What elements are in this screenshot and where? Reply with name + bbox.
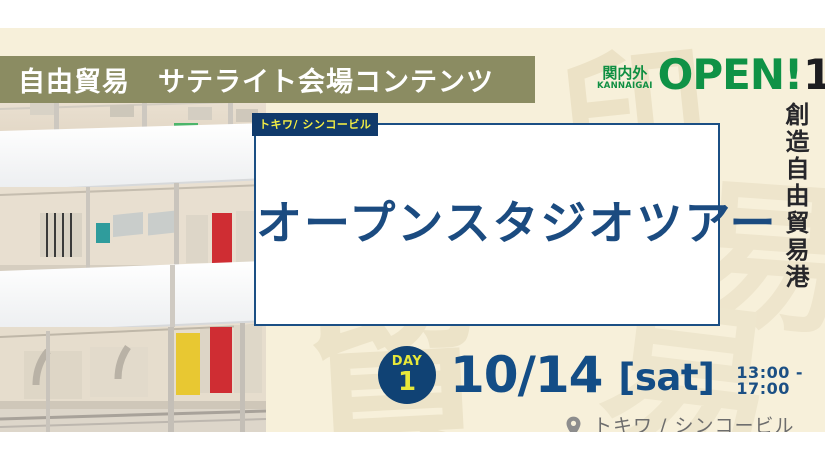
photo-artwork	[0, 75, 266, 432]
venue-photo	[0, 75, 266, 432]
logo-edition-number: 15	[803, 56, 825, 95]
logo-jp-kanji: 関内外	[602, 66, 647, 82]
header-banner-text: 自由貿易 サテライト会場コンテンツ	[0, 60, 494, 99]
poster-card: 印 易 貿 易	[0, 28, 825, 432]
date-row: DAY 1 10/14 [sat] 13:00 - 17:00	[378, 346, 825, 404]
kannaigai-open-logo: 関内外 KANNAIGAI OPEN! 15	[597, 56, 825, 95]
poster-canvas: 印 易 貿 易	[0, 0, 825, 464]
logo-japanese-block: 関内外 KANNAIGAI	[597, 66, 653, 92]
event-date: 10/14	[450, 350, 602, 400]
event-title: オープンスタジオツアー	[256, 187, 718, 253]
day-number: 1	[398, 369, 416, 395]
venue-badge: トキワ/ シンコービル	[252, 113, 378, 136]
day-badge: DAY 1	[378, 346, 436, 404]
venue-row: トキワ / シンコービル	[566, 416, 794, 432]
event-time: 13:00 - 17:00	[736, 365, 825, 397]
venue-name: トキワ / シンコービル	[593, 417, 794, 432]
location-pin-icon	[566, 416, 581, 432]
header-banner: 自由貿易 サテライト会場コンテンツ	[0, 56, 535, 103]
vertical-tagline: 創造自由貿易港	[777, 102, 807, 291]
event-title-box: トキワ/ シンコービル オープンスタジオツアー	[254, 123, 720, 326]
event-day-of-week: [sat]	[618, 359, 714, 396]
logo-jp-romaji: KANNAIGAI	[597, 81, 653, 91]
logo-open-word: OPEN!	[658, 56, 802, 95]
